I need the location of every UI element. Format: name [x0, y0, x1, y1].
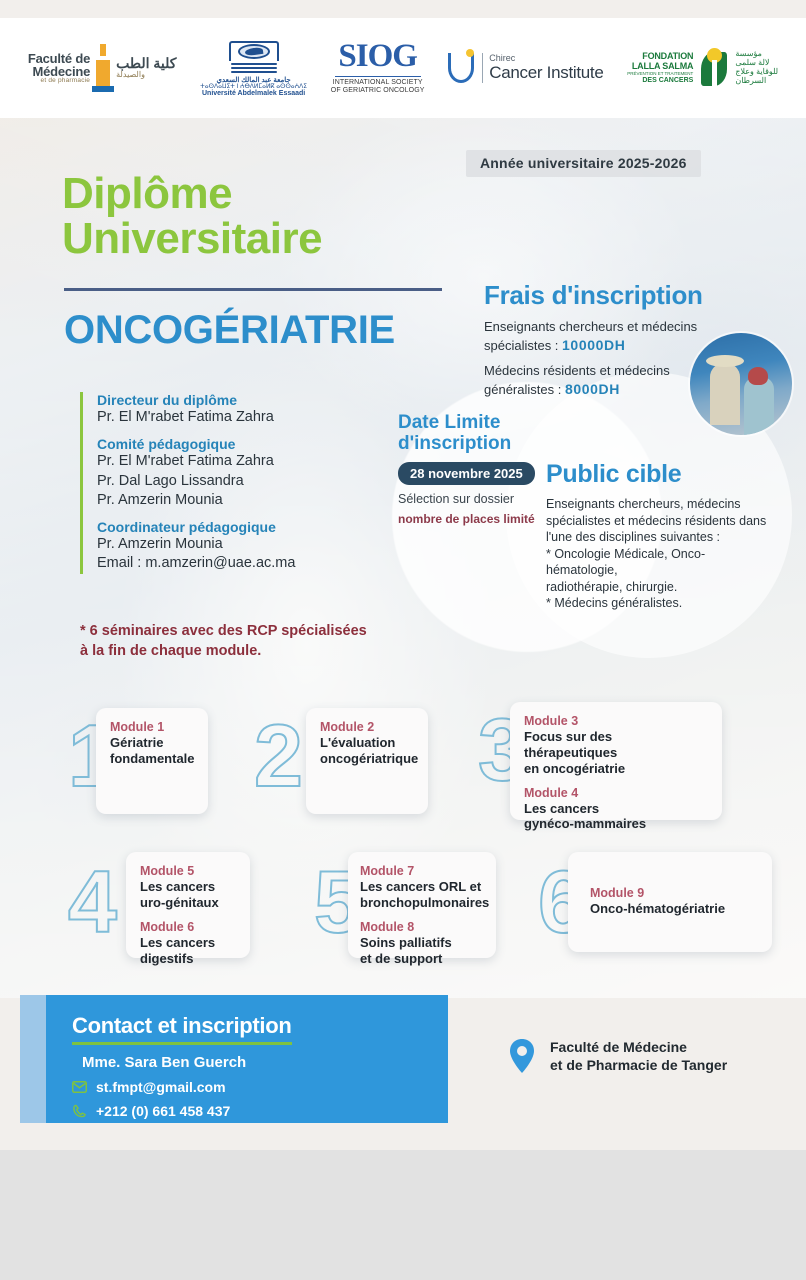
module-3-label: Module 3	[524, 714, 708, 728]
contact-email-row[interactable]: st.fmpt@gmail.com	[72, 1079, 402, 1095]
minaret-icon	[92, 44, 114, 92]
chirec-text: Chirec Cancer Institute	[489, 54, 603, 81]
uae-emblem-icon	[227, 39, 281, 75]
target-heading: Public cible	[546, 460, 776, 489]
seminars-note-line2: à la fin de chaque module.	[80, 642, 367, 662]
module-card-2[interactable]: Module 2 L'évaluation oncogériatrique	[306, 708, 428, 814]
siog-sub2: OF GERIATRIC ONCOLOGY	[331, 87, 425, 95]
logo-fmp-french-text: Faculté de Médecine et de pharmacie	[28, 52, 90, 85]
deadline-heading-line1: Date Limite	[398, 412, 558, 433]
deadline-selection-note: Sélection sur dossier	[398, 492, 558, 506]
fees-row-1: Enseignants chercheurs et médecins spéci…	[484, 319, 729, 355]
fees-row2-amount: 8000DH	[565, 381, 620, 397]
fees-row-2: Médecins résidents et médecins généralis…	[484, 363, 729, 399]
academic-year-badge: Année universitaire 2025-2026	[466, 150, 701, 177]
contact-email[interactable]: st.fmpt@gmail.com	[96, 1079, 226, 1095]
module-number-2: 2	[254, 712, 303, 800]
logo-fondation-lalla-salma: FONDATION LALLA SALMA PRÉVENTION ET TRAI…	[627, 46, 778, 90]
committee-label: Comité pédagogique	[97, 436, 400, 452]
deadline-block: Date Limite d'inscription 28 novembre 20…	[398, 412, 558, 526]
target-line5: radiothérapie, chirurgie.	[546, 580, 677, 594]
coordinator-name: Pr. Amzerin Mounia	[97, 535, 400, 554]
siog-subtitle: INTERNATIONAL SOCIETY OF GERIATRIC ONCOL…	[331, 79, 425, 95]
target-line6: * Médecins généralistes.	[546, 596, 682, 610]
director-label: Directeur du diplôme	[97, 392, 400, 408]
committee-member-3: Pr. Amzerin Mounia	[97, 491, 400, 510]
fees-block: Frais d'inscription Enseignants chercheu…	[484, 280, 784, 399]
module-9-label: Module 9	[590, 886, 758, 900]
deadline-limited-note: nombre de places limité	[398, 512, 558, 526]
location-line1: Faculté de Médecine	[550, 1038, 727, 1056]
location-text: Faculté de Médecine et de Pharmacie de T…	[550, 1038, 727, 1074]
logo-chirec-cancer-institute: Chirec Cancer Institute	[448, 49, 603, 87]
logo-uae-arabic: جامعة عبد المالك السعدي	[200, 77, 307, 84]
module-7-desc: Les cancers ORL et bronchopulmonaires	[360, 879, 482, 911]
phone-icon	[72, 1104, 87, 1118]
target-line2: spécialistes et médecins résidents dans	[546, 514, 766, 528]
logo-faculte-medecine-tanger: Faculté de Médecine et de pharmacie كلية…	[28, 44, 177, 92]
target-audience-block: Public cible Enseignants chercheurs, méd…	[546, 460, 776, 612]
logo-siog: SIOG INTERNATIONAL SOCIETY OF GERIATRIC …	[331, 41, 425, 94]
logo-uae-caption: جامعة عبد المالك السعدي ⵜⴰⵙⴷⴰⵡⵉⵜ ⵏ ⵄⴱⴷⵍⵎ…	[200, 77, 307, 98]
module-8-desc: Soins palliatifs et de support	[360, 935, 482, 967]
module-6-desc: Les cancers digestifs	[140, 935, 236, 967]
module-card-1[interactable]: Module 1 Gériatrie fondamentale	[96, 708, 208, 814]
deadline-date-badge: 28 novembre 2025	[398, 462, 535, 485]
fls-ar4: السرطان	[735, 77, 778, 86]
title-line2: Universitaire	[62, 217, 322, 262]
module-5-label: Module 5	[140, 864, 236, 878]
page-title-blue: ONCOGÉRIATRIE	[64, 308, 395, 353]
deadline-heading: Date Limite d'inscription	[398, 412, 558, 455]
poster-viewer: Faculté de Médecine et de pharmacie كلية…	[0, 0, 806, 1280]
target-line1: Enseignants chercheurs, médecins	[546, 497, 741, 511]
contact-heading: Contact et inscription	[72, 1013, 292, 1045]
fees-heading: Frais d'inscription	[484, 280, 784, 311]
logo-fmp-line1: Faculté de	[28, 52, 90, 65]
siog-wordmark: SIOG	[338, 41, 417, 72]
coordinator-label: Coordinateur pédagogique	[97, 519, 400, 535]
module-8-label: Module 8	[360, 920, 482, 934]
logo-universite-abdelmalek-essaadi: جامعة عبد المالك السعدي ⵜⴰⵙⴷⴰⵡⵉⵜ ⵏ ⵄⴱⴷⵍⵎ…	[200, 39, 307, 98]
chirec-mark-icon	[448, 49, 476, 87]
siog-sub1: INTERNATIONAL SOCIETY	[331, 79, 425, 87]
module-1-label: Module 1	[110, 720, 194, 734]
director-name: Pr. El M'rabet Fatima Zahra	[97, 408, 400, 427]
poster-canvas: Faculté de Médecine et de pharmacie كلية…	[0, 0, 806, 1150]
siog-divider	[335, 76, 421, 77]
page-title-green: Diplôme Universitaire	[62, 172, 322, 262]
title-line1: Diplôme	[62, 172, 322, 217]
fls-line3: PRÉVENTION ET TRAITEMENT	[627, 72, 693, 77]
module-card-5[interactable]: Module 7 Les cancers ORL et bronchopulmo…	[348, 852, 496, 958]
module-3-desc: Focus sur des thérapeutiques en oncogéri…	[524, 729, 708, 777]
logo-fmp-arabic2: والصيدلة	[116, 71, 176, 79]
fls-emblem-icon	[697, 46, 731, 90]
logo-uae-french: Université Abdelmalek Essaadi	[200, 90, 307, 97]
staff-block: Directeur du diplôme Pr. El M'rabet Fati…	[80, 392, 400, 574]
contact-footer-side-tab	[20, 995, 46, 1123]
seminars-note: * 6 séminaires avec des RCP spécialisées…	[80, 622, 367, 661]
target-body: Enseignants chercheurs, médecins spécial…	[546, 496, 776, 612]
module-card-4[interactable]: Module 5 Les cancers uro-génitaux Module…	[126, 852, 250, 958]
envelope-icon	[72, 1080, 87, 1094]
module-card-3[interactable]: Module 3 Focus sur des thérapeutiques en…	[510, 702, 722, 820]
deadline-heading-line2: d'inscription	[398, 433, 558, 454]
module-7-label: Module 7	[360, 864, 482, 878]
fls-french-text: FONDATION LALLA SALMA PRÉVENTION ET TRAI…	[627, 52, 693, 84]
module-number-4: 4	[68, 858, 117, 946]
chirec-line2: Cancer Institute	[489, 64, 603, 82]
fls-arabic-text: مؤسسة لالة سلمى للوقاية وعلاج السرطان	[735, 50, 778, 85]
title-divider	[64, 288, 442, 291]
contact-block: Contact et inscription Mme. Sara Ben Gue…	[72, 1013, 402, 1119]
location-line2: et de Pharmacie de Tanger	[550, 1056, 727, 1074]
module-6-label: Module 6	[140, 920, 236, 934]
committee-member-1: Pr. El M'rabet Fatima Zahra	[97, 452, 400, 471]
viewer-bottom-padding	[0, 1150, 806, 1280]
chirec-divider	[482, 53, 483, 83]
coordinator-email[interactable]: Email : m.amzerin@uae.ac.ma	[97, 554, 400, 573]
module-4-desc: Les cancers gynéco-mammaires	[524, 801, 708, 833]
fees-row1-amount: 10000DH	[562, 337, 625, 353]
map-pin-icon	[508, 1038, 536, 1074]
target-line4: * Oncologie Médicale, Onco-hématologie,	[546, 547, 705, 578]
module-9-desc: Onco-hématogériatrie	[590, 901, 758, 917]
logo-fmp-arabic1: كلية الطب	[116, 56, 176, 71]
target-line3: l'une des disciplines suivantes :	[546, 530, 720, 544]
contact-phone-row[interactable]: +212 (0) 661 458 437	[72, 1103, 402, 1119]
committee-member-2: Pr. Dal Lago Lissandra	[97, 472, 400, 491]
partner-logos-strip: Faculté de Médecine et de pharmacie كلية…	[0, 18, 806, 118]
contact-phone[interactable]: +212 (0) 661 458 437	[96, 1103, 230, 1119]
seminars-note-line1: * 6 séminaires avec des RCP spécialisées	[80, 622, 367, 642]
logo-fmp-line2: Médecine	[28, 65, 90, 78]
contact-person: Mme. Sara Ben Guerch	[82, 1054, 402, 1071]
location-block: Faculté de Médecine et de Pharmacie de T…	[508, 1038, 727, 1074]
module-2-label: Module 2	[320, 720, 414, 734]
module-1-desc: Gériatrie fondamentale	[110, 735, 194, 767]
fls-line4: DES CANCERS	[627, 77, 693, 85]
module-4-label: Module 4	[524, 786, 708, 800]
logo-fmp-arabic-text: كلية الطب والصيدلة	[116, 56, 176, 79]
module-card-6[interactable]: Module 9 Onco-hématogériatrie	[568, 852, 772, 952]
module-5-desc: Les cancers uro-génitaux	[140, 879, 236, 911]
module-2-desc: L'évaluation oncogériatrique	[320, 735, 414, 767]
